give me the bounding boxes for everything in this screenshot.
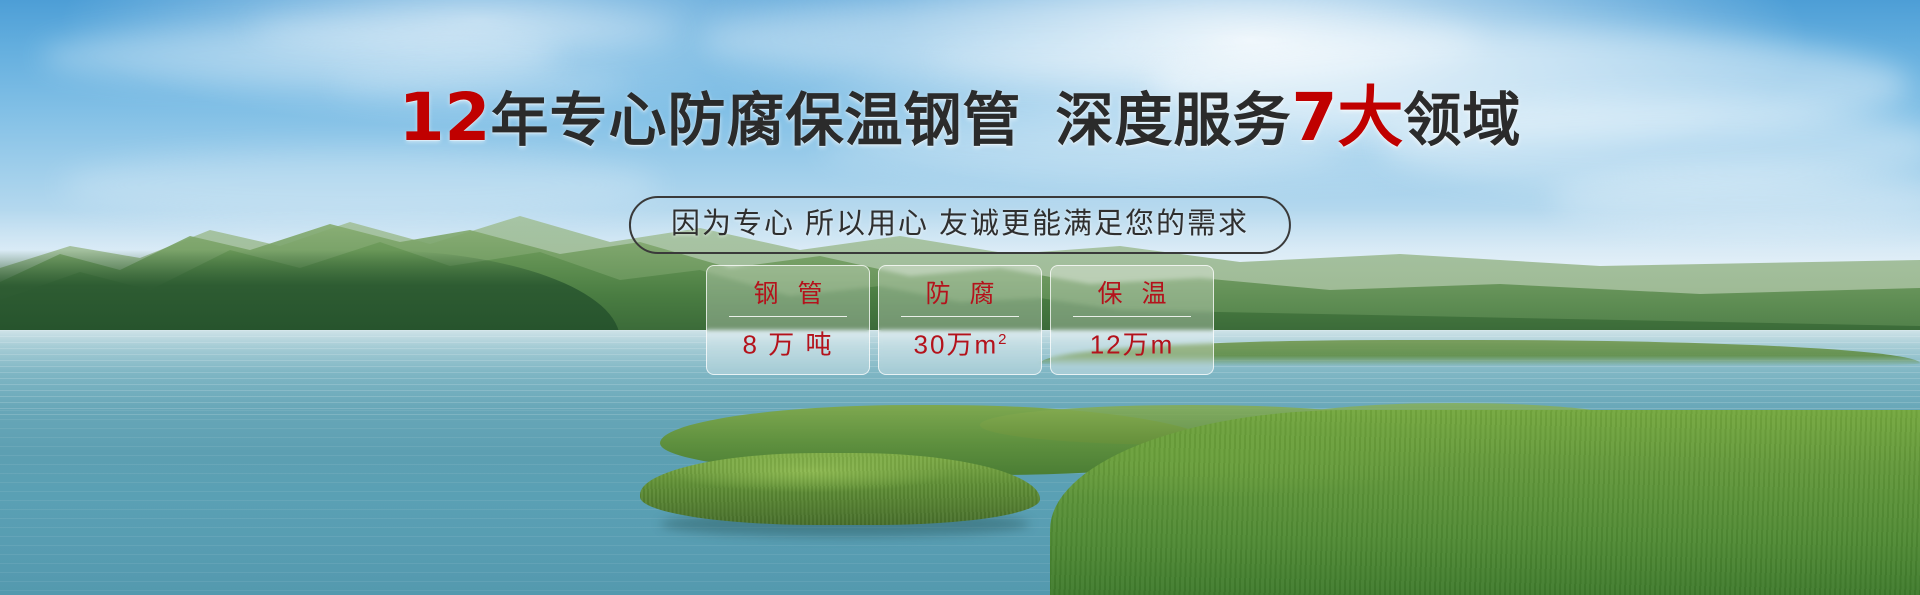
stat-card-anticorrosion[interactable]: 防 腐 30万m2 (878, 265, 1042, 375)
stat-card-divider (1073, 316, 1191, 317)
stat-value-sup: 2 (998, 331, 1006, 348)
stat-card-title: 防 腐 (920, 280, 1001, 308)
stat-card-title: 保 温 (1092, 280, 1173, 308)
stat-card-divider (901, 316, 1019, 317)
stat-card-steel-pipe[interactable]: 钢 管 8 万 吨 (706, 265, 870, 375)
cloud-shape (250, 10, 680, 48)
stat-card-divider (729, 316, 847, 317)
cloud-shape (930, 46, 1190, 72)
grass-bank (1050, 410, 1920, 595)
stat-card-group: 钢 管 8 万 吨 防 腐 30万m2 保 温 12万m (706, 265, 1214, 375)
headline-number-years: 12 (399, 79, 491, 156)
stat-card-insulation[interactable]: 保 温 12万m (1050, 265, 1214, 375)
stat-value-text: 12万m (1090, 330, 1175, 360)
headline-segment-1: 年专心防腐保温钢管 (490, 86, 1021, 154)
grass-texture (1050, 410, 1920, 595)
stat-value-text: 30万m (914, 330, 999, 360)
stat-card-value: 30万m2 (914, 325, 1007, 360)
headline-number-fields: 7 (1291, 79, 1337, 156)
stat-card-value: 8 万 吨 (743, 325, 834, 360)
hero-banner: 12年专心防腐保温钢管深度服务7大领域 因为专心 所以用心 友诚更能满足您的需求… (0, 0, 1920, 595)
stat-card-title: 钢 管 (748, 280, 829, 308)
page-title: 12年专心防腐保温钢管深度服务7大领域 (0, 86, 1920, 152)
headline-segment-3: 大 (1337, 79, 1403, 156)
stat-value-text: 8 万 吨 (743, 330, 834, 360)
headline-segment-2: 深度服务 (1055, 86, 1291, 154)
stat-card-value: 12万m (1090, 325, 1175, 360)
subtitle-pill: 因为专心 所以用心 友诚更能满足您的需求 (629, 196, 1291, 254)
headline-segment-4: 领域 (1403, 86, 1521, 154)
